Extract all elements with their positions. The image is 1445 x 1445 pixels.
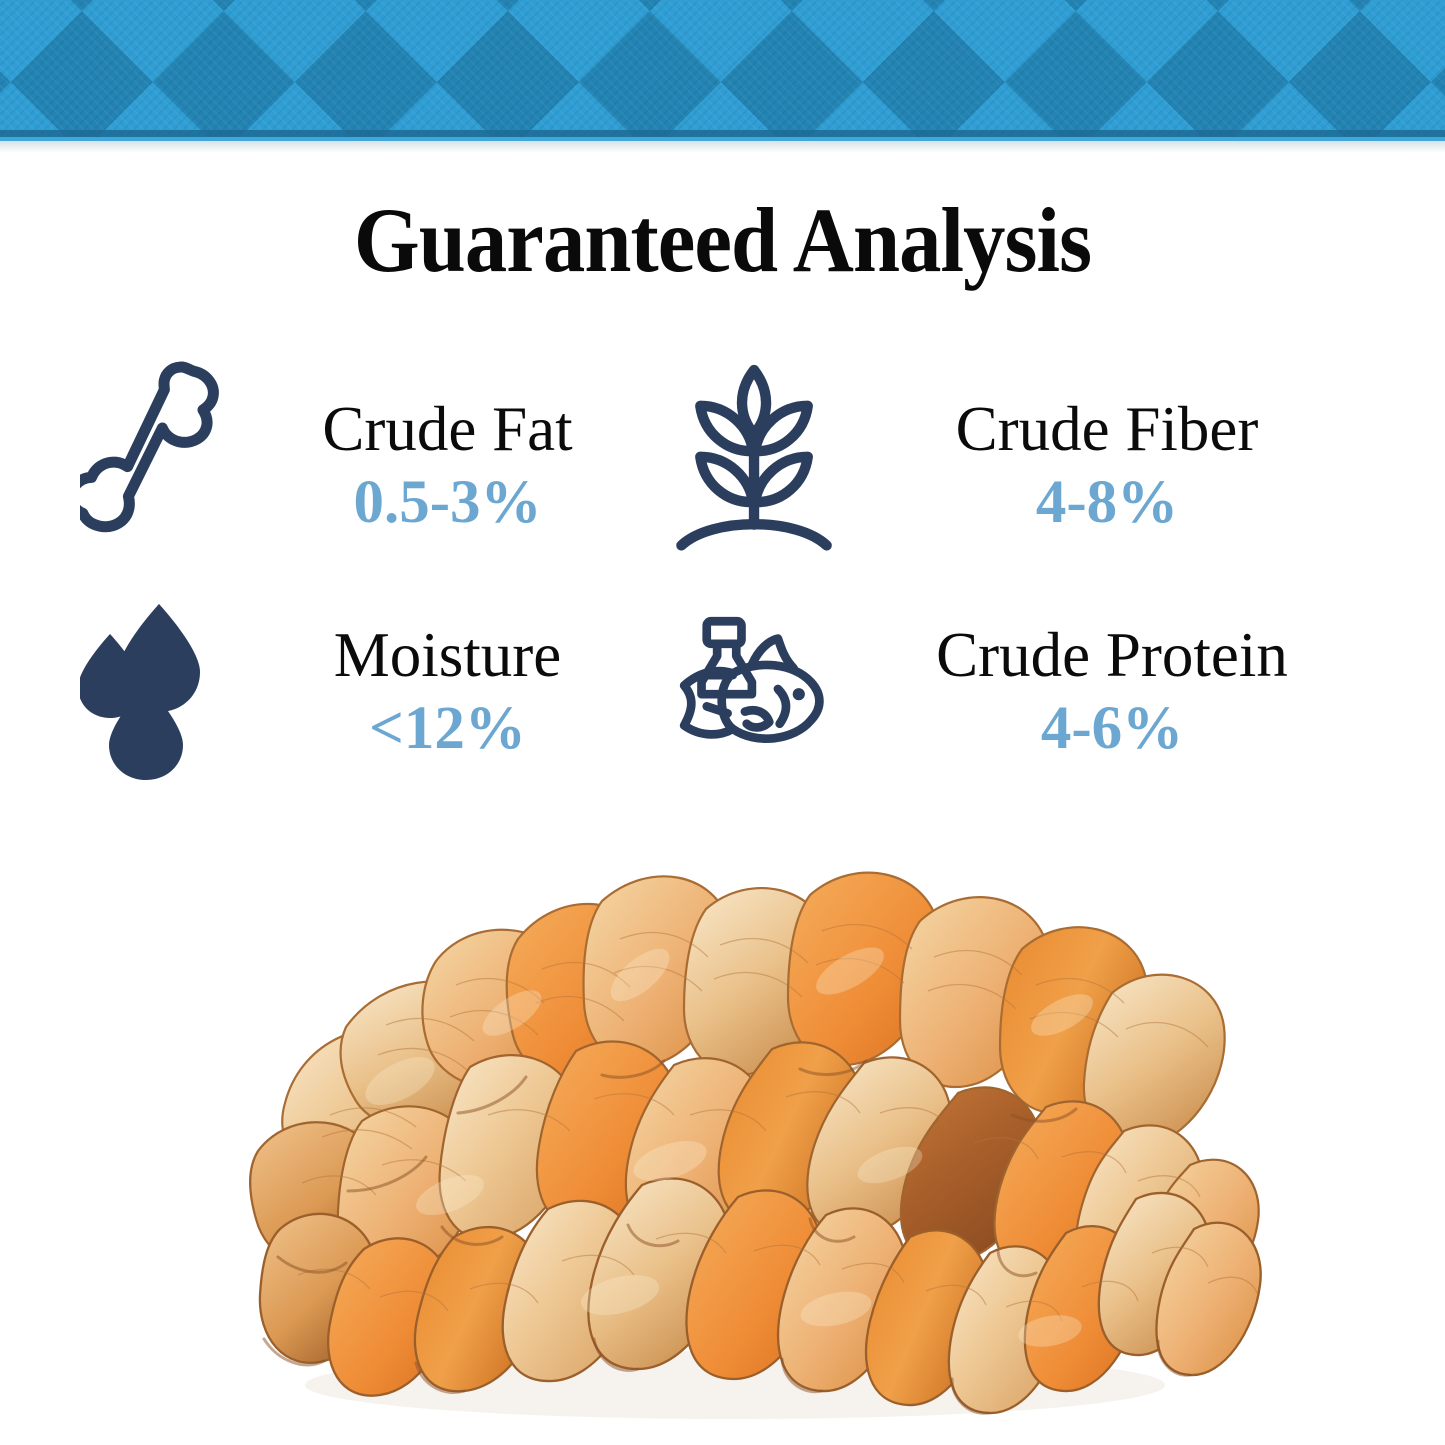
page-title: Guaranteed Analysis (58, 194, 1387, 286)
analysis-item-crude-fat: Crude Fat 0.5-3% (72, 348, 672, 596)
banner-drop-shadow (0, 141, 1445, 153)
nutrient-value: 4-6% (837, 694, 1387, 764)
wheat-sprout-icon (672, 348, 837, 558)
nutrient-value: 0.5-3% (237, 468, 658, 538)
analysis-labels: Moisture <12% (237, 596, 672, 764)
analysis-labels: Crude Fiber 4-8% (837, 348, 1387, 538)
analysis-item-moisture: Moisture <12% (72, 596, 672, 826)
analysis-item-crude-protein: Crude Protein 4-6% (672, 596, 1387, 826)
analysis-item-crude-fiber: Crude Fiber 4-8% (672, 348, 1387, 596)
guaranteed-analysis-grid: Crude Fat 0.5-3% (72, 348, 1387, 826)
bone-icon (72, 348, 237, 558)
guaranteed-analysis-panel: Guaranteed Analysis Crude Fat 0.5-3% (0, 0, 1445, 1445)
analysis-labels: Crude Fat 0.5-3% (237, 348, 672, 538)
nutrient-name: Moisture (237, 622, 658, 688)
water-droplets-icon (72, 596, 237, 781)
nutrient-name: Crude Protein (837, 622, 1387, 688)
plaid-thread-texture (0, 0, 1445, 141)
product-photo-dried-sweet-potato (150, 865, 1310, 1425)
nutrient-value: 4-8% (837, 468, 1377, 538)
fish-oil-bottle-icon (672, 596, 837, 781)
nutrient-name: Crude Fat (237, 396, 658, 462)
analysis-labels: Crude Protein 4-6% (837, 596, 1387, 764)
nutrient-value: <12% (237, 694, 658, 764)
banner-dark-edge (0, 130, 1445, 137)
plaid-banner (0, 0, 1445, 141)
nutrient-name: Crude Fiber (837, 396, 1377, 462)
